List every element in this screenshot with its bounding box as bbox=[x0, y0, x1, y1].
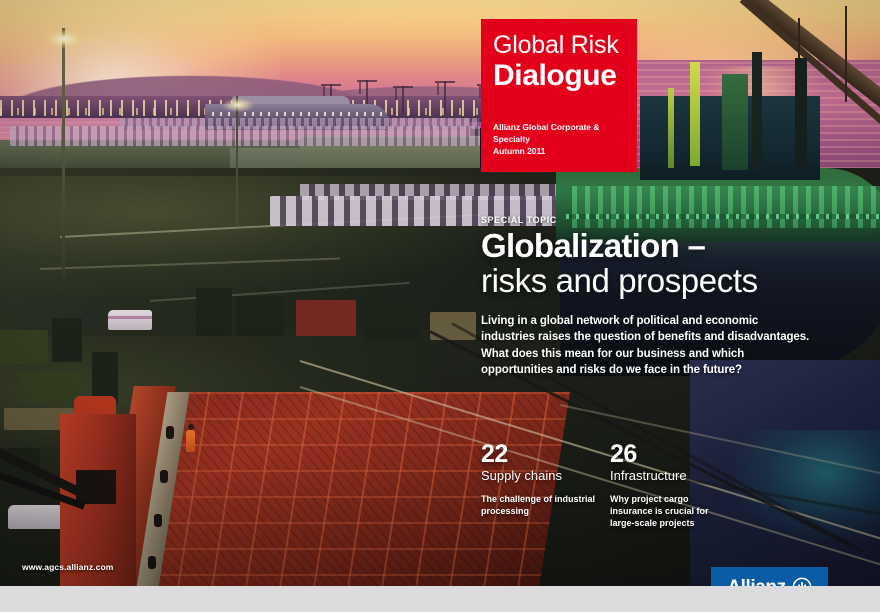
special-topic-kicker: SPECIAL TOPIC bbox=[481, 215, 821, 225]
teaser-item[interactable]: 26 Infrastructure Why project cargo insu… bbox=[610, 442, 740, 529]
cargo-ship-stack bbox=[752, 52, 762, 170]
cargo-ship-funnel bbox=[722, 74, 748, 170]
red-crane-housing bbox=[76, 470, 116, 504]
teaser-label: Infrastructure bbox=[610, 469, 740, 484]
light-mast bbox=[62, 28, 65, 278]
teaser-page-number: 26 bbox=[610, 442, 740, 467]
masthead-publisher: Allianz Global Corporate & Specialty bbox=[493, 121, 623, 146]
special-topic-body: Living in a global network of political … bbox=[481, 313, 811, 378]
white-van-foreground bbox=[8, 505, 62, 529]
masthead-issue: Autumn 2011 bbox=[493, 145, 623, 157]
masthead-title-line2: Dialogue bbox=[493, 60, 623, 91]
teaser-description: The challenge of industrial processing bbox=[481, 493, 603, 517]
dock-worker bbox=[186, 430, 195, 452]
special-topic-headline-line1: Globalization – bbox=[481, 229, 821, 262]
cargo-ship-mast bbox=[690, 62, 700, 166]
mast-lamp-secondary bbox=[222, 98, 254, 112]
dock-worker-head bbox=[188, 424, 194, 430]
mast-lamp bbox=[44, 30, 84, 48]
cargo-ship-stack-secondary bbox=[795, 58, 807, 170]
page-bottom-band bbox=[0, 586, 880, 612]
magazine-cover-page: Global Risk Dialogue Allianz Global Corp… bbox=[0, 0, 880, 612]
light-mast-secondary bbox=[236, 96, 238, 226]
van-stripe bbox=[108, 316, 152, 319]
masthead-subtitle: Allianz Global Corporate & Specialty Aut… bbox=[493, 121, 623, 158]
white-van bbox=[108, 310, 152, 330]
teaser-page-number: 22 bbox=[481, 442, 611, 467]
website-url[interactable]: www.agcs.allianz.com bbox=[22, 562, 113, 572]
special-topic-headline-line2: risks and prospects bbox=[481, 264, 821, 299]
masthead-block: Global Risk Dialogue Allianz Global Corp… bbox=[481, 19, 637, 172]
masthead-title-line1: Global Risk bbox=[493, 33, 623, 59]
parked-car-row bbox=[10, 126, 480, 146]
crane-cable bbox=[845, 6, 847, 102]
teaser-description: Why project cargo insurance is crucial f… bbox=[610, 493, 732, 529]
special-topic-block: SPECIAL TOPIC Globalization – risks and … bbox=[481, 215, 821, 378]
cargo-ship-mast-secondary bbox=[668, 88, 674, 168]
teaser-item[interactable]: 22 Supply chains The challenge of indust… bbox=[481, 442, 611, 517]
teaser-label: Supply chains bbox=[481, 469, 611, 484]
